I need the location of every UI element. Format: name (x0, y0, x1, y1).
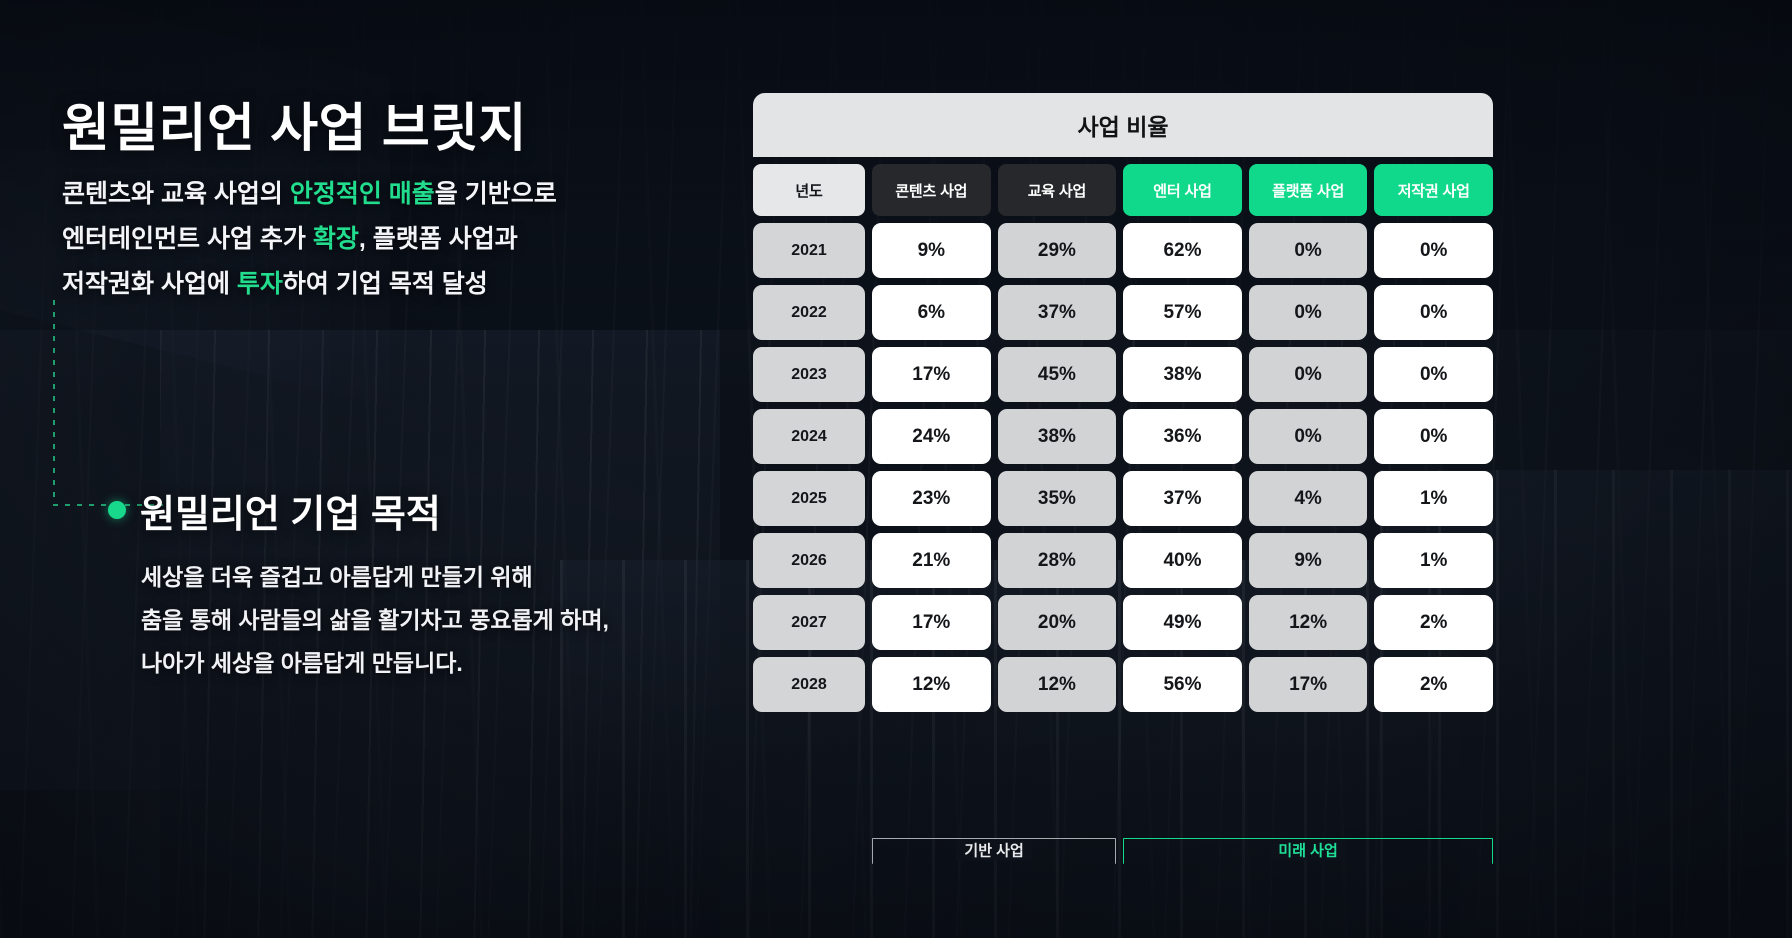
table-cell: 0% (1374, 223, 1493, 278)
table-cell: 45% (998, 347, 1117, 402)
bracket-future: 미래 사업 (1123, 836, 1493, 866)
table-header-cell-5[interactable]: 저작권 사업 (1374, 164, 1493, 216)
table-cell: 49% (1123, 595, 1242, 650)
table-row: 2024 (753, 409, 865, 464)
bracket-group: 기반 사업미래 사업 (753, 836, 1493, 872)
table-cell: 40% (1123, 533, 1242, 588)
table-cell: 4% (1249, 471, 1368, 526)
table-cell: 17% (872, 347, 991, 402)
section-title: 원밀리언 기업 목적 (140, 483, 441, 538)
bracket-base: 기반 사업 (872, 836, 1116, 866)
table-header-cell-3[interactable]: 엔터 사업 (1123, 164, 1242, 216)
table-cell: 2% (1374, 595, 1493, 650)
table-cell: 62% (1123, 223, 1242, 278)
table-cell: 0% (1249, 347, 1368, 402)
table-cell: 9% (872, 223, 991, 278)
table-cell: 21% (872, 533, 991, 588)
lead-highlight-2: 확장 (313, 225, 359, 253)
table-cell: 12% (1249, 595, 1368, 650)
left-content-pane: 원밀리언 사업 브릿지 콘텐츠와 교육 사업의 안정적인 매출을 기반으로 엔터… (0, 0, 760, 938)
table-cell: 36% (1123, 409, 1242, 464)
table-title: 사업 비율 (753, 93, 1493, 157)
table-cell: 0% (1374, 409, 1493, 464)
business-ratio-table: 사업 비율 년도콘텐츠 사업교육 사업엔터 사업플랫폼 사업저작권 사업 202… (753, 93, 1493, 712)
table-cell: 1% (1374, 533, 1493, 588)
table-cell: 38% (1123, 347, 1242, 402)
bracket-label: 기반 사업 (955, 840, 1032, 861)
table-header-cell-1[interactable]: 콘텐츠 사업 (872, 164, 991, 216)
table-row: 2025 (753, 471, 865, 526)
table-header-row: 년도콘텐츠 사업교육 사업엔터 사업플랫폼 사업저작권 사업 (753, 164, 1493, 216)
table-cell: 20% (998, 595, 1117, 650)
lead-text-4: 하여 기업 목적 달성 (283, 270, 488, 298)
table-cell: 29% (998, 223, 1117, 278)
table-cell: 57% (1123, 285, 1242, 340)
table-cell: 0% (1249, 409, 1368, 464)
table-row: 2026 (753, 533, 865, 588)
lead-highlight-1: 안정적인 매출 (290, 180, 435, 208)
section-body-text: 세상을 더욱 즐겁고 아름답게 만들기 위해 춤을 통해 사람들의 삶을 활기차… (141, 556, 609, 685)
table-cell: 0% (1249, 223, 1368, 278)
lead-paragraph: 콘텐츠와 교육 사업의 안정적인 매출을 기반으로 엔터테인먼트 사업 추가 확… (62, 172, 557, 307)
table-cell: 12% (872, 657, 991, 712)
table-header-cell-2[interactable]: 교육 사업 (998, 164, 1117, 216)
table-cell: 1% (1374, 471, 1493, 526)
table-header-cell-4[interactable]: 플랫폼 사업 (1249, 164, 1368, 216)
table-cell: 17% (872, 595, 991, 650)
table-cell: 2% (1374, 657, 1493, 712)
table-cell: 6% (872, 285, 991, 340)
table-row: 2027 (753, 595, 865, 650)
lead-text-1: 콘텐츠와 교육 사업의 (62, 180, 290, 208)
table-cell: 0% (1249, 285, 1368, 340)
table-cell: 24% (872, 409, 991, 464)
table-header-cell-0[interactable]: 년도 (753, 164, 865, 216)
table-cell: 28% (998, 533, 1117, 588)
connector-dot-icon (108, 501, 126, 519)
table-cell: 37% (998, 285, 1117, 340)
table-row: 2021 (753, 223, 865, 278)
page-title: 원밀리언 사업 브릿지 (62, 86, 527, 161)
table-row: 2022 (753, 285, 865, 340)
table-cell: 0% (1374, 347, 1493, 402)
table-cell: 56% (1123, 657, 1242, 712)
table-row: 2023 (753, 347, 865, 402)
lead-highlight-3: 투자 (237, 270, 283, 298)
table-body: 20219%29%62%0%0%20226%37%57%0%0%202317%4… (753, 223, 1493, 712)
table-cell: 9% (1249, 533, 1368, 588)
table-cell: 37% (1123, 471, 1242, 526)
table-cell: 0% (1374, 285, 1493, 340)
bracket-label: 미래 사업 (1269, 840, 1346, 861)
table-row: 2028 (753, 657, 865, 712)
table-cell: 38% (998, 409, 1117, 464)
table-cell: 17% (1249, 657, 1368, 712)
table-cell: 23% (872, 471, 991, 526)
table-cell: 35% (998, 471, 1117, 526)
table-cell: 12% (998, 657, 1117, 712)
